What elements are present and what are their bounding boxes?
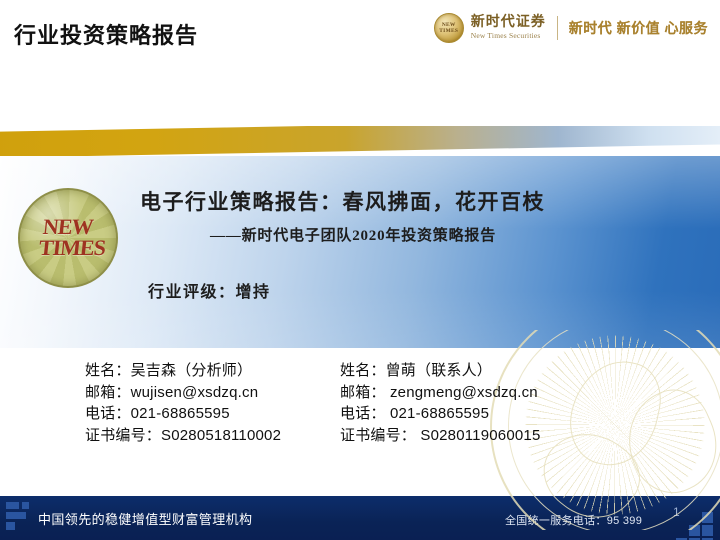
hero-titles: 电子行业策略报告：春风拂面，花开百枝 ——新时代电子团队2020年投资策略报告 — [140, 186, 700, 245]
contact-block: 姓名：吴吉森（分析师） 邮箱：wujisen@xsdzq.cn 电话：021-6… — [0, 360, 720, 446]
brand-lockup: 新时代证券 New Times Securities 新时代 新价值 心服务 — [434, 13, 708, 43]
new-times-emblem-icon: NEW TIMES — [18, 188, 118, 288]
footer-tagline: 中国领先的稳健增值型财富管理机构 — [38, 509, 252, 528]
emblem-line-2: TIMES — [38, 238, 106, 259]
page-title: 行业投资策略报告 — [14, 18, 198, 50]
brand-name-cn: 新时代证券 — [471, 16, 546, 30]
analyst-phone: 电话：021-68865595 — [85, 403, 335, 425]
contact-analyst: 姓名：吴吉森（分析师） 邮箱：wujisen@xsdzq.cn 电话：021-6… — [85, 360, 335, 446]
slide-root: 行业投资策略报告 新时代证券 New Times Securities 新时代 … — [0, 0, 720, 540]
associate-cert: 证书编号： S0280119060015 — [340, 425, 620, 447]
analyst-name: 姓名：吴吉森（分析师） — [85, 360, 335, 382]
associate-email: 邮箱： zengmeng@xsdzq.cn — [340, 382, 620, 404]
brand-name-block: 新时代证券 New Times Securities — [471, 16, 546, 40]
new-times-seal-icon — [434, 13, 464, 43]
footer-decoration-right-icon — [672, 506, 716, 540]
brand-slogan: 新时代 新价值 心服务 — [569, 18, 708, 38]
report-subtitle: ——新时代电子团队2020年投资策略报告 — [210, 224, 700, 245]
footer-decoration-left-icon — [6, 502, 36, 534]
analyst-cert: 证书编号：S0280518110002 — [85, 425, 335, 447]
contact-associate: 姓名：曾萌（联系人） 邮箱： zengmeng@xsdzq.cn 电话： 021… — [340, 360, 620, 446]
associate-name: 姓名：曾萌（联系人） — [340, 360, 620, 382]
emblem-text: NEW TIMES — [20, 190, 116, 286]
gold-band-fill — [0, 126, 720, 158]
industry-rating: 行业评级：增持 — [148, 278, 271, 302]
footer-service-phone: 全国统一服务电话：95 399 — [505, 512, 642, 528]
associate-phone: 电话： 021-68865595 — [340, 403, 620, 425]
brand-name-en: New Times Securities — [471, 32, 546, 40]
analyst-email: 邮箱：wujisen@xsdzq.cn — [85, 382, 335, 404]
brand-divider — [557, 16, 558, 40]
report-title: 电子行业策略报告：春风拂面，花开百枝 — [140, 186, 700, 216]
slide-footer: 中国领先的稳健增值型财富管理机构 全国统一服务电话：95 399 1 — [0, 496, 720, 540]
slide-header: 行业投资策略报告 新时代证券 New Times Securities 新时代 … — [0, 0, 720, 58]
